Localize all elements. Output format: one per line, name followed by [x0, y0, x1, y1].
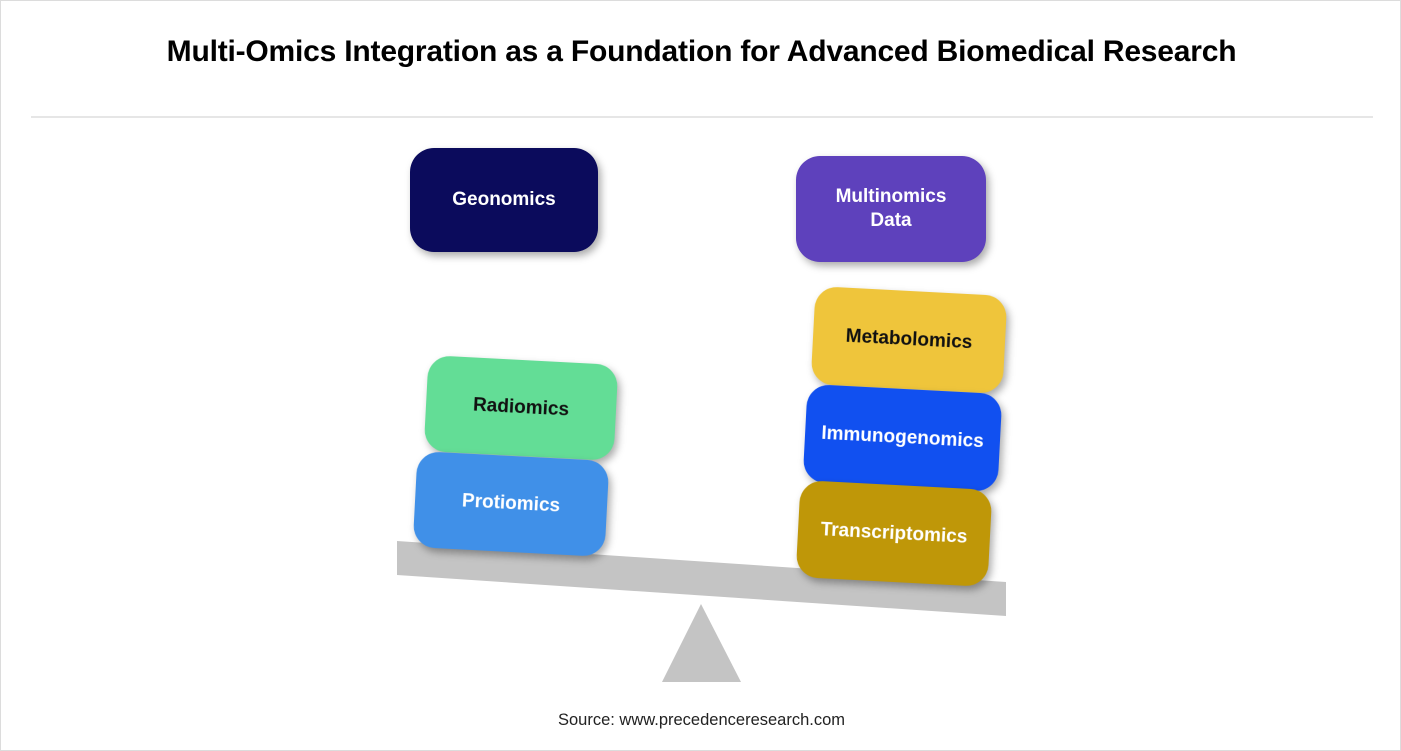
- omics-box-label: Geonomics: [452, 188, 555, 212]
- balance-scale-diagram: Geonomics Radiomics Protiomics Multinomi…: [1, 1, 1401, 751]
- diagram-page: Multi-Omics Integration as a Foundation …: [0, 0, 1401, 751]
- omics-box-immunogenomics[interactable]: Immunogenomics: [803, 384, 1003, 492]
- omics-box-label: Multinomics Data: [836, 185, 947, 233]
- omics-box-multinomics-data[interactable]: Multinomics Data: [796, 156, 986, 262]
- seesaw-fulcrum: [662, 604, 741, 682]
- omics-box-label: Immunogenomics: [821, 422, 985, 454]
- omics-box-transcriptomics[interactable]: Transcriptomics: [796, 480, 993, 587]
- omics-box-label-line1: Multinomics: [836, 186, 947, 207]
- omics-box-radiomics[interactable]: Radiomics: [424, 355, 619, 461]
- seesaw-graphic: [1, 1, 1401, 751]
- omics-box-label: Metabolomics: [845, 325, 973, 355]
- omics-box-label: Protiomics: [461, 490, 560, 519]
- omics-box-geonomics[interactable]: Geonomics: [410, 148, 598, 252]
- omics-box-label: Transcriptomics: [820, 518, 968, 549]
- source-note: Source: www.precedenceresearch.com: [1, 711, 1401, 730]
- omics-box-protiomics[interactable]: Protiomics: [413, 451, 610, 557]
- omics-box-label-line2: Data: [870, 210, 911, 231]
- omics-box-metabolomics[interactable]: Metabolomics: [811, 286, 1008, 394]
- omics-box-label: Radiomics: [472, 394, 569, 423]
